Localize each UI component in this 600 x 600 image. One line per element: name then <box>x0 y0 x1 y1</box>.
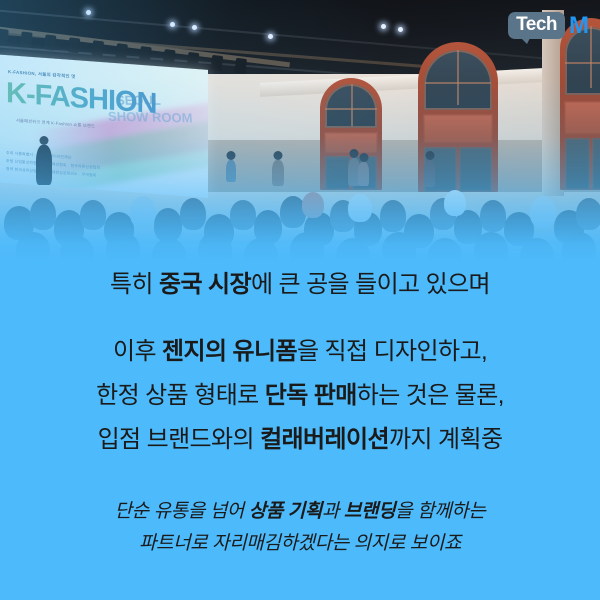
audience-head <box>530 196 556 228</box>
caption-line: 이후 젠지의 유니폼을 직접 디자인하고, <box>0 330 600 374</box>
audience-head <box>130 196 156 228</box>
plain-text: 특히 <box>110 271 159 298</box>
audience-head <box>520 238 554 262</box>
screen-subhead-2: SHOW ROOM <box>108 109 193 126</box>
emphasis-text: 중국 시장 <box>159 271 251 298</box>
ceiling-light <box>268 34 273 39</box>
audience-head <box>154 208 182 242</box>
audience-crowd <box>0 170 600 262</box>
audience-head <box>230 200 256 230</box>
plain-text: 과 <box>322 501 344 522</box>
audience-head <box>80 200 106 230</box>
window-mullion <box>457 50 459 105</box>
stage-lamp <box>115 43 128 59</box>
audience-head <box>474 232 508 262</box>
audience-head <box>152 238 186 262</box>
plain-text: 한정 상품 형태로 <box>96 382 265 409</box>
plain-text: 단순 유통을 넘어 <box>115 501 249 522</box>
audience-head <box>16 232 50 262</box>
plain-text: 입점 브랜드와의 <box>98 426 261 453</box>
plain-text: 에 큰 공을 들이고 있으며 <box>251 271 490 298</box>
audience-head <box>576 198 600 230</box>
audience-head <box>444 190 466 216</box>
ceiling-light <box>170 22 175 27</box>
caption-body: 특히 중국 시장에 큰 공을 들이고 있으며 이후 젠지의 유니폼을 직접 디자… <box>0 262 600 600</box>
audience-head <box>106 232 140 262</box>
stage-lamp <box>20 31 33 47</box>
stage-lamp <box>163 49 176 65</box>
ceiling-light <box>86 10 91 15</box>
door-transom-panel <box>564 101 600 135</box>
emphasis-text: 젠지의 유니폼 <box>162 338 297 365</box>
paragraph-2: 이후 젠지의 유니폼을 직접 디자인하고,한정 상품 형태로 단독 판매하는 것… <box>0 330 600 462</box>
audience-head <box>380 200 406 232</box>
audience-head <box>480 200 506 232</box>
paragraph-3: 단순 유통을 넘어 상품 기획과 브랜딩을 함께하는파트너로 자리매김하겠다는 … <box>0 496 600 560</box>
caption-line: 입점 브랜드와의 컬래버레이션까지 계획중 <box>0 418 600 462</box>
stage-lamp <box>187 52 200 68</box>
plain-text: 을 직접 디자인하고, <box>297 338 487 365</box>
stage-lamp <box>139 46 152 62</box>
emphasis-text: 단독 판매 <box>265 382 357 409</box>
emphasis-text: 상품 기획 <box>249 501 322 522</box>
window-mullion <box>590 26 592 88</box>
ceiling-light <box>192 25 197 30</box>
audience-head <box>290 232 324 262</box>
person-head <box>350 149 359 158</box>
logo-bubble-tech: Tech <box>508 12 565 39</box>
emphasis-text: 브랜딩 <box>344 501 395 522</box>
person-head <box>425 151 434 160</box>
stage-lamp <box>91 40 104 56</box>
caption-line: 파트너로 자리매김하겠다는 의지로 보이죠 <box>0 528 600 560</box>
window-mullion <box>425 82 491 84</box>
person-head <box>359 153 368 162</box>
emphasis-text: 컬래버레이션 <box>260 426 389 453</box>
person-head <box>274 151 283 160</box>
audience-head <box>60 236 94 262</box>
audience-head <box>302 192 324 218</box>
person-head <box>227 151 236 160</box>
plain-text: 을 함께하는 <box>395 501 485 522</box>
social-card: K-FASHION, 서울의 감각적인 멋 K-FASHION SEOUL SH… <box>0 0 600 600</box>
stage-lamp <box>68 37 81 53</box>
person-head <box>40 136 49 145</box>
audience-head <box>562 232 596 262</box>
brand-logo[interactable]: Tech M <box>508 12 588 39</box>
caption-line: 특히 중국 시장에 큰 공을 들이고 있으며 <box>0 268 600 302</box>
audience-head <box>348 194 372 222</box>
audience-head <box>180 198 206 230</box>
window-mullion <box>351 84 353 126</box>
stage-lamp <box>210 55 223 71</box>
plain-text: 파트너로 자리매김하겠다는 의지로 보이죠 <box>139 533 461 554</box>
logo-mark-m: M <box>569 14 588 38</box>
screen-subhead-1: SEOUL <box>116 93 162 108</box>
audience-head <box>382 232 416 262</box>
audience-head <box>30 198 56 230</box>
caption-line: 한정 상품 형태로 단독 판매하는 것은 물론, <box>0 374 600 418</box>
caption-line: 단순 유통을 넘어 상품 기획과 브랜딩을 함께하는 <box>0 496 600 528</box>
ceiling-light <box>381 24 386 29</box>
plain-text: 이후 <box>113 338 162 365</box>
door-transom-panel <box>423 114 493 144</box>
arched-door <box>560 18 600 190</box>
stage-lamp <box>44 34 57 50</box>
window-mullion <box>565 62 600 64</box>
audience-head <box>198 232 232 262</box>
audience-head <box>428 238 462 262</box>
stage-lamp <box>0 29 9 45</box>
plain-text: 까지 계획중 <box>389 426 502 453</box>
window-mullion <box>325 108 377 110</box>
stage-lamp <box>234 58 247 74</box>
paragraph-1: 특히 중국 시장에 큰 공을 들이고 있으며 <box>0 268 600 302</box>
plain-text: 하는 것은 물론, <box>357 382 504 409</box>
ceiling-light <box>398 27 403 32</box>
